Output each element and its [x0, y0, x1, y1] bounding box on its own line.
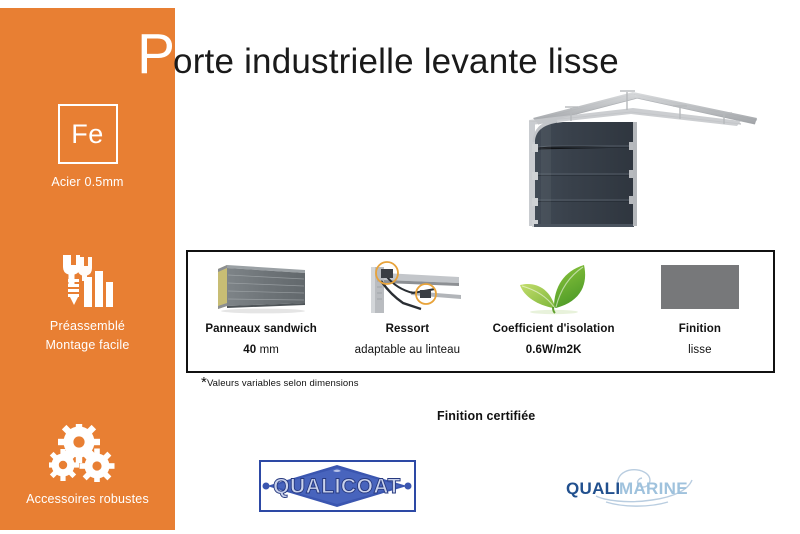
qualicoat-logo: QUALICOAT — [259, 460, 416, 512]
sidebar-item-accessoires: Accessoires robustes — [0, 424, 175, 509]
green-leaves-icon — [498, 258, 610, 316]
qualimarine-logo: QUALI MARINE — [556, 466, 716, 510]
feature-value: adaptable au linteau — [355, 344, 461, 356]
feature-value-bold: 0.6W/m2K — [526, 344, 582, 356]
fe-square-icon: Fe — [58, 104, 118, 164]
qualimarine-logo-text-secondary: MARINE — [619, 479, 688, 498]
feature-value: 40 mm — [243, 344, 279, 356]
feature-value: lisse — [688, 344, 712, 356]
qualicoat-logo-text: QUALICOAT — [273, 475, 401, 498]
sidebar-item-preassemble-label-1: Préassemblé — [0, 317, 175, 336]
wrench-assembly-icon — [0, 251, 175, 309]
feature-coefficient-isolation: Coefficient d'isolation 0.6W/m2K — [481, 252, 627, 371]
feature-value-rest: lisse — [688, 344, 712, 356]
sidebar-item-acier-label: Acier 0.5mm — [0, 173, 175, 192]
feature-panneaux-sandwich: Panneaux sandwich 40 mm — [188, 252, 334, 371]
page-title: Porte industrielle levante lisse — [137, 26, 619, 90]
spring-rail-icon — [351, 258, 463, 316]
feature-title: Finition — [679, 323, 721, 335]
feature-value: 0.6W/m2K — [526, 344, 582, 356]
feature-finition: Finition lisse — [627, 252, 773, 371]
footnote: *Valeurs variables selon dimensions — [201, 378, 359, 389]
feature-value-rest: adaptable au linteau — [355, 344, 461, 356]
feature-value-rest: mm — [256, 344, 279, 356]
page-title-dropcap: P — [137, 26, 175, 83]
feature-value-bold: 40 — [243, 344, 256, 356]
feature-box: Panneaux sandwich 40 mm — [186, 250, 775, 373]
sidebar-item-acier: Fe Acier 0.5mm — [0, 104, 175, 192]
feature-title: Panneaux sandwich — [205, 323, 317, 335]
grey-swatch-icon — [661, 258, 739, 316]
page-title-text: orte industrielle levante lisse — [173, 33, 619, 90]
feature-title: Coefficient d'isolation — [493, 323, 615, 335]
feature-ressort: Ressort adaptable au linteau — [334, 252, 480, 371]
certification-label: Finition certifiée — [437, 409, 535, 423]
sidebar-item-accessoires-label: Accessoires robustes — [0, 490, 175, 509]
fe-symbol: Fe — [71, 119, 104, 150]
footnote-text: Valeurs variables selon dimensions — [207, 378, 359, 389]
gears-icon — [0, 424, 175, 482]
poster-sheet: Fe Acier 0.5mm Préassem — [0, 0, 800, 534]
product-image-sectional-door — [505, 88, 795, 233]
sandwich-panel-icon — [205, 258, 317, 316]
sidebar-item-preassemble: Préassemblé Montage facile — [0, 251, 175, 355]
sidebar-item-preassemble-label-2: Montage facile — [0, 336, 175, 355]
qualimarine-logo-text-primary: QUALI — [566, 479, 620, 498]
finish-color-swatch — [661, 265, 739, 309]
feature-title: Ressort — [386, 323, 430, 335]
